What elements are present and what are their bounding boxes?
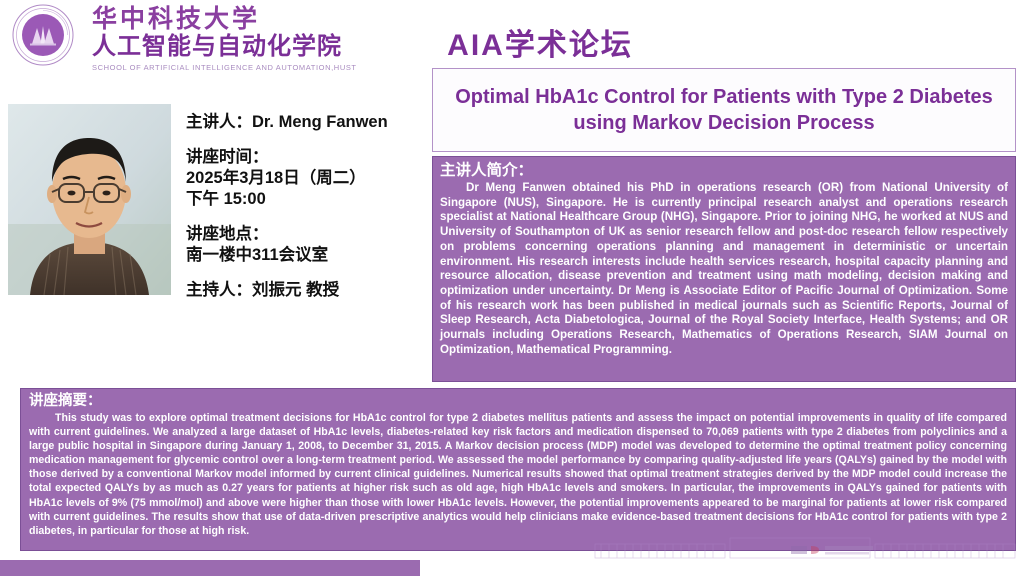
seminar-clock-value: 下午 15:00 (186, 189, 426, 210)
seminar-venue-group: 讲座地点： 南一楼中311会议室 (186, 224, 426, 266)
speaker-bio-panel: 主讲人简介： Dr Meng Fanwen obtained his PhD i… (432, 156, 1016, 382)
forum-title: AIA学术论坛 (410, 20, 670, 64)
speaker-name-group: 主讲人：Dr. Meng Fanwen (186, 112, 426, 133)
school-name-cn: 人工智能与自动化学院 (92, 33, 422, 60)
school-name-en: SCHOOL OF ARTIFICIAL INTELLIGENCE AND AU… (92, 62, 422, 73)
abstract-panel: 讲座摘要： This study was to explore optimal … (20, 388, 1016, 551)
institution-watermark-icon (575, 536, 1024, 576)
speaker-photo (8, 104, 171, 295)
seminar-time-label: 讲座时间： (186, 147, 426, 168)
speaker-bio-heading: 主讲人简介： (440, 161, 1008, 180)
aia-circular-emblem-icon (12, 4, 74, 66)
page-header: 华中科技大学 人工智能与自动化学院 SCHOOL OF ARTIFICIAL I… (0, 0, 1024, 68)
abstract-text: This study was to explore optimal treatm… (29, 411, 1007, 538)
paper-title: Optimal HbA1c Control for Patients with … (433, 84, 1015, 136)
seminar-venue-label: 讲座地点： (186, 224, 426, 245)
university-name-cn: 华中科技大学 (92, 5, 422, 33)
seminar-host-group: 主持人：刘振元 教授 (186, 280, 426, 301)
seminar-host: 主持人：刘振元 教授 (186, 280, 426, 301)
seminar-venue-value: 南一楼中311会议室 (186, 245, 426, 266)
abstract-heading: 讲座摘要： (29, 392, 1007, 410)
speaker-bio-text: Dr Meng Fanwen obtained his PhD in opera… (440, 181, 1008, 357)
seminar-time-group: 讲座时间： 2025年3月18日（周二） 下午 15:00 (186, 147, 426, 210)
speaker-name: 主讲人：Dr. Meng Fanwen (186, 112, 426, 133)
speaker-info-block: 主讲人：Dr. Meng Fanwen 讲座时间： 2025年3月18日（周二）… (186, 112, 426, 301)
institution-wordmark: 华中科技大学 人工智能与自动化学院 SCHOOL OF ARTIFICIAL I… (92, 5, 422, 73)
paper-title-box: Optimal HbA1c Control for Patients with … (432, 68, 1016, 152)
footer-accent-bar (0, 560, 420, 576)
seminar-date-value: 2025年3月18日（周二） (186, 168, 426, 189)
